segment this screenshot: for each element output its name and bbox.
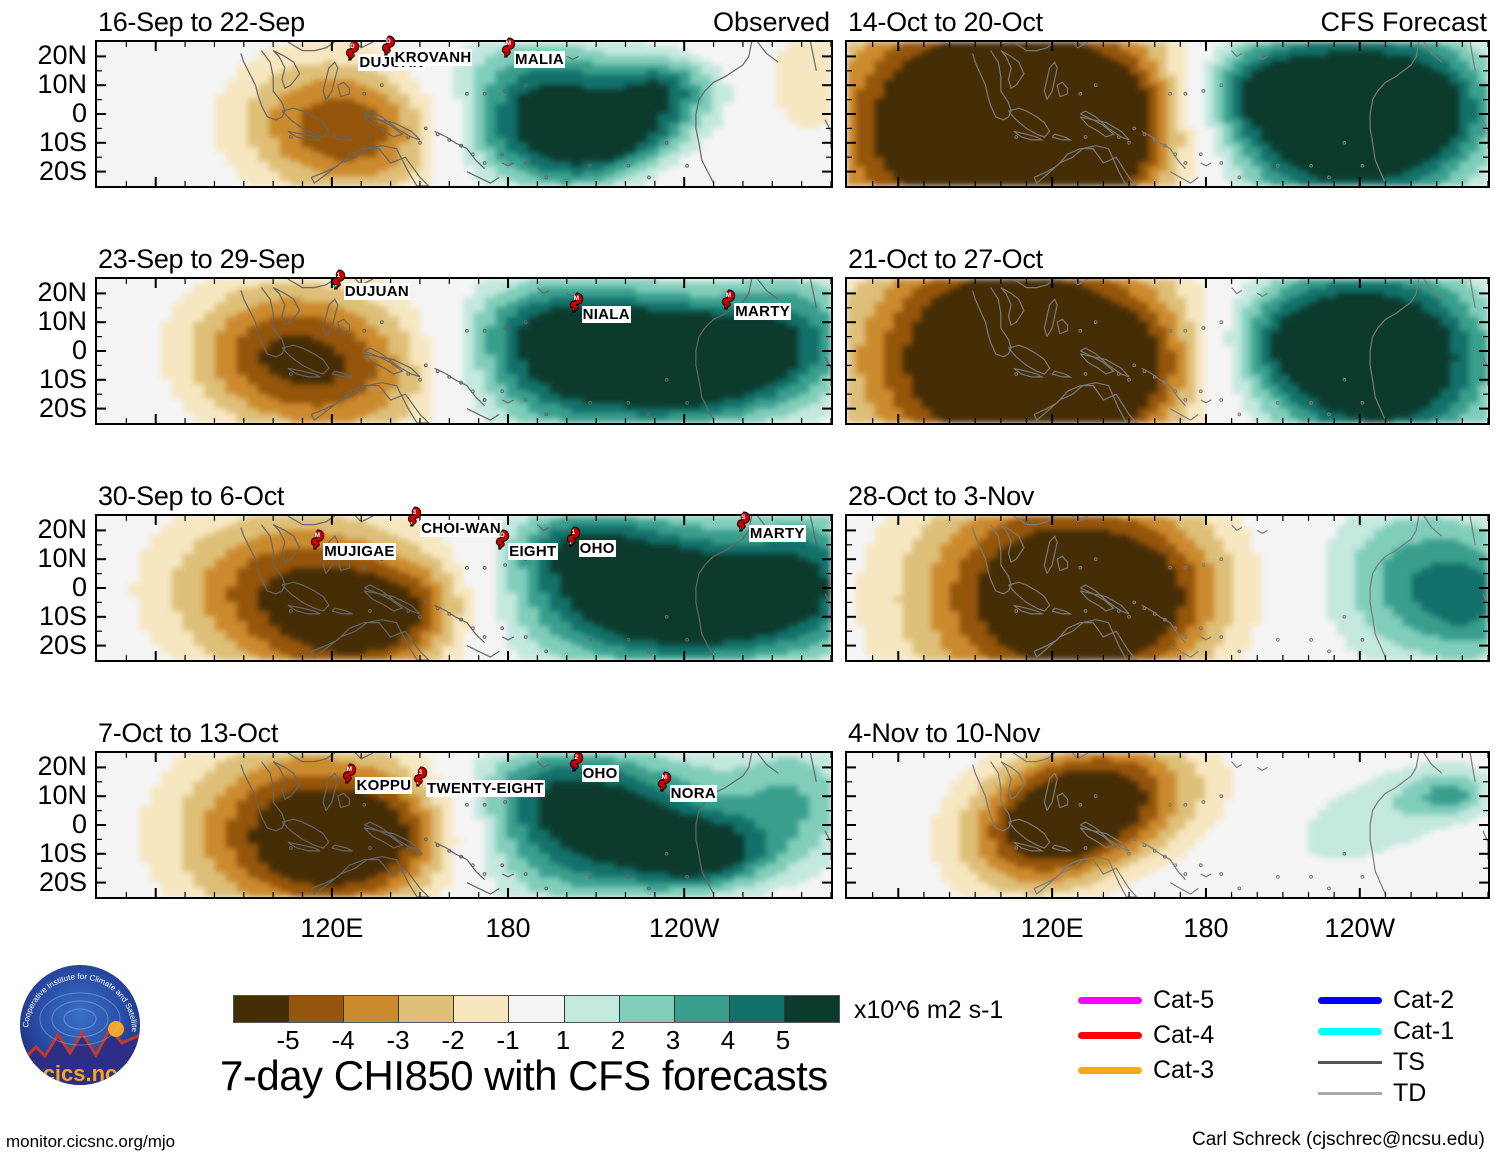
colorbar-cell-6 <box>565 996 620 1022</box>
y-tick-label: 10N <box>37 308 87 335</box>
y-tick-label: 20N <box>37 279 87 306</box>
y-tick-label: 20S <box>39 632 87 659</box>
y-tick-label: 10S <box>39 366 87 393</box>
legend-label: TS <box>1393 1050 1425 1075</box>
legend-label: Cat-1 <box>1393 1019 1454 1044</box>
colorbar-cell-4 <box>454 996 509 1022</box>
legend-swatch-td <box>1318 1092 1382 1095</box>
panel-title-obs-2: 23-Sep to 29-Sep <box>98 246 305 273</box>
map-panel-cfs-2[interactable] <box>845 277 1490 425</box>
colorbar-cell-2 <box>344 996 399 1022</box>
y-tick-label: 20S <box>39 158 87 185</box>
legend-label: Cat-5 <box>1153 988 1214 1013</box>
column-header-observed: Observed <box>713 9 830 36</box>
y-tick-label: 20S <box>39 869 87 896</box>
colorbar-tick-label: -3 <box>386 1027 409 1053</box>
legend-swatch-ts <box>1318 1061 1382 1064</box>
x-tick-label: 180 <box>1183 915 1228 942</box>
y-tick-label: 20N <box>37 42 87 69</box>
y-tick-label: 0 <box>72 100 87 127</box>
colorbar-tick-label: 4 <box>721 1027 735 1053</box>
colorbar-tick-label: -4 <box>331 1027 354 1053</box>
colorbar-tick-label: -1 <box>496 1027 519 1053</box>
y-tick-label: 0 <box>72 811 87 838</box>
legend-item-td: TD <box>1318 1081 1426 1106</box>
y-tick-label: 10N <box>37 782 87 809</box>
colorbar-tick-label: 2 <box>611 1027 625 1053</box>
colorbar-tick-label: 3 <box>666 1027 680 1053</box>
y-tick-label: 20N <box>37 516 87 543</box>
x-tick-label: 120E <box>1021 915 1084 942</box>
legend-label: TD <box>1393 1081 1426 1106</box>
map-panel-cfs-1[interactable] <box>845 40 1490 188</box>
legend-swatch-cat-1 <box>1318 1028 1382 1035</box>
colorbar <box>233 995 840 1023</box>
colorbar-units-label: x10^6 m2 s-1 <box>854 998 1003 1023</box>
map-panel-obs-4[interactable] <box>95 751 833 899</box>
legend-swatch-cat-2 <box>1318 997 1382 1004</box>
legend-swatch-cat-3 <box>1078 1067 1142 1074</box>
panel-title-cfs-1: 14-Oct to 20-Oct <box>848 9 1043 36</box>
panel-title-obs-3: 30-Sep to 6-Oct <box>98 483 284 510</box>
legend-item-cat-5: Cat-5 <box>1078 988 1214 1013</box>
x-tick-label: 180 <box>486 915 531 942</box>
map-panel-cfs-4[interactable] <box>845 751 1490 899</box>
legend-item-cat-4: Cat-4 <box>1078 1023 1214 1048</box>
y-tick-label: 0 <box>72 574 87 601</box>
y-tick-label: 10S <box>39 840 87 867</box>
panel-title-cfs-3: 28-Oct to 3-Nov <box>848 483 1034 510</box>
y-tick-label: 20S <box>39 395 87 422</box>
legend-item-cat-3: Cat-3 <box>1078 1058 1214 1083</box>
legend-item-cat-1: Cat-1 <box>1318 1019 1454 1044</box>
colorbar-cell-3 <box>399 996 454 1022</box>
footer-url[interactable]: monitor.cicsnc.org/mjo <box>6 1133 175 1150</box>
colorbar-cell-10 <box>785 996 839 1022</box>
y-tick-label: 10N <box>37 71 87 98</box>
panel-title-obs-4: 7-Oct to 13-Oct <box>98 720 278 747</box>
legend-item-ts: TS <box>1318 1050 1425 1075</box>
colorbar-cell-1 <box>289 996 344 1022</box>
colorbar-cell-7 <box>620 996 675 1022</box>
map-panel-cfs-3[interactable] <box>845 514 1490 662</box>
page-title: 7-day CHI850 with CFS forecasts <box>220 1055 828 1097</box>
panel-title-obs-1: 16-Sep to 22-Sep <box>98 9 305 36</box>
cics-nc-logo[interactable]: cics.nc Cooperative Institute for Climat… <box>18 963 142 1087</box>
x-tick-label: 120E <box>300 915 363 942</box>
colorbar-tick-label: 1 <box>556 1027 570 1053</box>
legend-label: Cat-2 <box>1393 988 1454 1013</box>
x-tick-label: 120W <box>1325 915 1396 942</box>
y-tick-label: 10S <box>39 129 87 156</box>
y-tick-label: 20N <box>37 753 87 780</box>
colorbar-tick-label: -5 <box>276 1027 299 1053</box>
colorbar-cell-9 <box>730 996 785 1022</box>
map-panel-obs-2[interactable] <box>95 277 833 425</box>
column-header-forecast: CFS Forecast <box>1320 9 1487 36</box>
y-tick-label: 0 <box>72 337 87 364</box>
legend-swatch-cat-5 <box>1078 997 1142 1004</box>
x-tick-label: 120W <box>649 915 720 942</box>
legend-label: Cat-3 <box>1153 1058 1214 1083</box>
logo-wordmark: cics.nc <box>43 1061 118 1086</box>
map-panel-obs-1[interactable] <box>95 40 833 188</box>
legend-swatch-cat-4 <box>1078 1032 1142 1039</box>
legend-item-cat-2: Cat-2 <box>1318 988 1454 1013</box>
colorbar-cell-8 <box>675 996 730 1022</box>
colorbar-tick-label: 5 <box>776 1027 790 1053</box>
colorbar-cell-5 <box>509 996 564 1022</box>
footer-author: Carl Schreck (cjschrec@ncsu.edu) <box>1192 1130 1485 1149</box>
y-tick-label: 10N <box>37 545 87 572</box>
y-tick-label: 10S <box>39 603 87 630</box>
map-panel-obs-3[interactable] <box>95 514 833 662</box>
panel-title-cfs-4: 4-Nov to 10-Nov <box>848 720 1040 747</box>
panel-title-cfs-2: 21-Oct to 27-Oct <box>848 246 1043 273</box>
colorbar-tick-label: -2 <box>441 1027 464 1053</box>
legend-label: Cat-4 <box>1153 1023 1214 1048</box>
colorbar-cell-0 <box>234 996 289 1022</box>
